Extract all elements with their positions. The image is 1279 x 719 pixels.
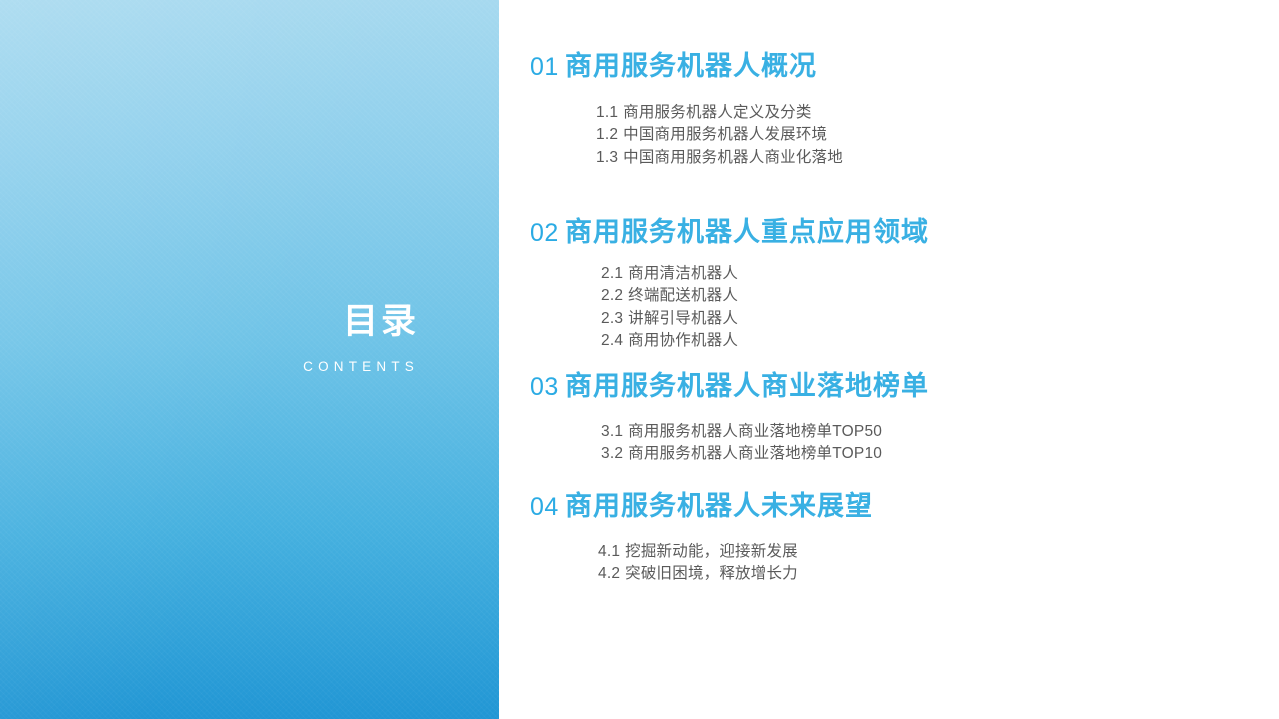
list-item[interactable]: 1.2中国商用服务机器人发展环境 [596,124,843,146]
sub-item-label: 讲解引导机器人 [628,310,738,327]
section-header-01[interactable]: 01 商用服务机器人概况 [499,44,843,88]
section-title-04: 商用服务机器人未来展望 [565,484,873,528]
left-gradient-panel: 目录 CONTENTS [0,0,499,719]
toc-section-04: 04 商用服务机器人未来展望 4.1挖掘新动能，迎接新发展 4.2突破旧困境，释… [499,484,873,586]
sub-item-number: 2.4 [601,330,623,352]
sub-item-label: 终端配送机器人 [628,287,738,304]
table-of-contents: 01 商用服务机器人概况 1.1商用服务机器人定义及分类 1.2中国商用服务机器… [499,0,1279,719]
list-item[interactable]: 3.1商用服务机器人商业落地榜单TOP50 [601,421,929,443]
sub-item-label: 中国商用服务机器人商业化落地 [623,149,843,166]
section-number-02: 02 [499,211,565,255]
section-number-03: 03 [499,365,565,409]
section-header-04[interactable]: 04 商用服务机器人未来展望 [499,484,873,528]
list-item[interactable]: 4.1挖掘新动能，迎接新发展 [598,541,873,563]
sub-item-number: 3.1 [601,421,623,443]
section-number-01: 01 [499,45,565,89]
sub-item-label: 商用协作机器人 [628,332,738,349]
slide-root: 目录 CONTENTS 01 商用服务机器人概况 1.1商用服务机器人定义及分类… [0,0,1279,719]
sub-item-label: 商用服务机器人定义及分类 [623,104,811,121]
sub-item-label: 突破旧困境，释放增长力 [625,565,798,582]
section-01-sub-list: 1.1商用服务机器人定义及分类 1.2中国商用服务机器人发展环境 1.3中国商用… [499,102,843,169]
list-item[interactable]: 1.1商用服务机器人定义及分类 [596,102,843,124]
list-item[interactable]: 2.2终端配送机器人 [601,285,929,307]
list-item[interactable]: 2.1商用清洁机器人 [601,263,929,285]
sub-item-number: 1.1 [596,102,618,124]
sub-item-label: 商用服务机器人商业落地榜单TOP50 [628,423,882,440]
sub-item-label: 商用服务机器人商业落地榜单TOP10 [628,445,882,462]
section-title-03: 商用服务机器人商业落地榜单 [565,364,929,408]
section-title-02: 商用服务机器人重点应用领域 [565,210,929,254]
list-item[interactable]: 3.2商用服务机器人商业落地榜单TOP10 [601,443,929,465]
panel-title-english: CONTENTS [0,358,419,376]
sub-item-number: 1.3 [596,147,618,169]
toc-section-01: 01 商用服务机器人概况 1.1商用服务机器人定义及分类 1.2中国商用服务机器… [499,44,843,169]
list-item[interactable]: 2.3讲解引导机器人 [601,308,929,330]
sub-item-label: 中国商用服务机器人发展环境 [623,126,827,143]
sub-item-number: 2.3 [601,308,623,330]
sub-item-number: 1.2 [596,124,618,146]
sub-item-label: 挖掘新动能，迎接新发展 [625,543,798,560]
toc-section-02: 02 商用服务机器人重点应用领域 2.1商用清洁机器人 2.2终端配送机器人 2… [499,210,929,353]
section-number-04: 04 [499,485,565,529]
section-03-sub-list: 3.1商用服务机器人商业落地榜单TOP50 3.2商用服务机器人商业落地榜单TO… [499,421,929,466]
sub-item-number: 4.2 [598,563,620,585]
panel-title-chinese: 目录 [0,300,419,344]
section-header-02[interactable]: 02 商用服务机器人重点应用领域 [499,210,929,254]
toc-section-03: 03 商用服务机器人商业落地榜单 3.1商用服务机器人商业落地榜单TOP50 3… [499,364,929,466]
sub-item-number: 2.2 [601,285,623,307]
section-header-03[interactable]: 03 商用服务机器人商业落地榜单 [499,364,929,408]
section-02-sub-list: 2.1商用清洁机器人 2.2终端配送机器人 2.3讲解引导机器人 2.4商用协作… [499,263,929,353]
sub-item-number: 3.2 [601,443,623,465]
section-04-sub-list: 4.1挖掘新动能，迎接新发展 4.2突破旧困境，释放增长力 [499,541,873,586]
list-item[interactable]: 4.2突破旧困境，释放增长力 [598,563,873,585]
panel-heading: 目录 CONTENTS [0,300,419,376]
sub-item-label: 商用清洁机器人 [628,265,738,282]
sub-item-number: 2.1 [601,263,623,285]
sub-item-number: 4.1 [598,541,620,563]
list-item[interactable]: 2.4商用协作机器人 [601,330,929,352]
section-title-01: 商用服务机器人概况 [565,44,817,88]
list-item[interactable]: 1.3中国商用服务机器人商业化落地 [596,147,843,169]
